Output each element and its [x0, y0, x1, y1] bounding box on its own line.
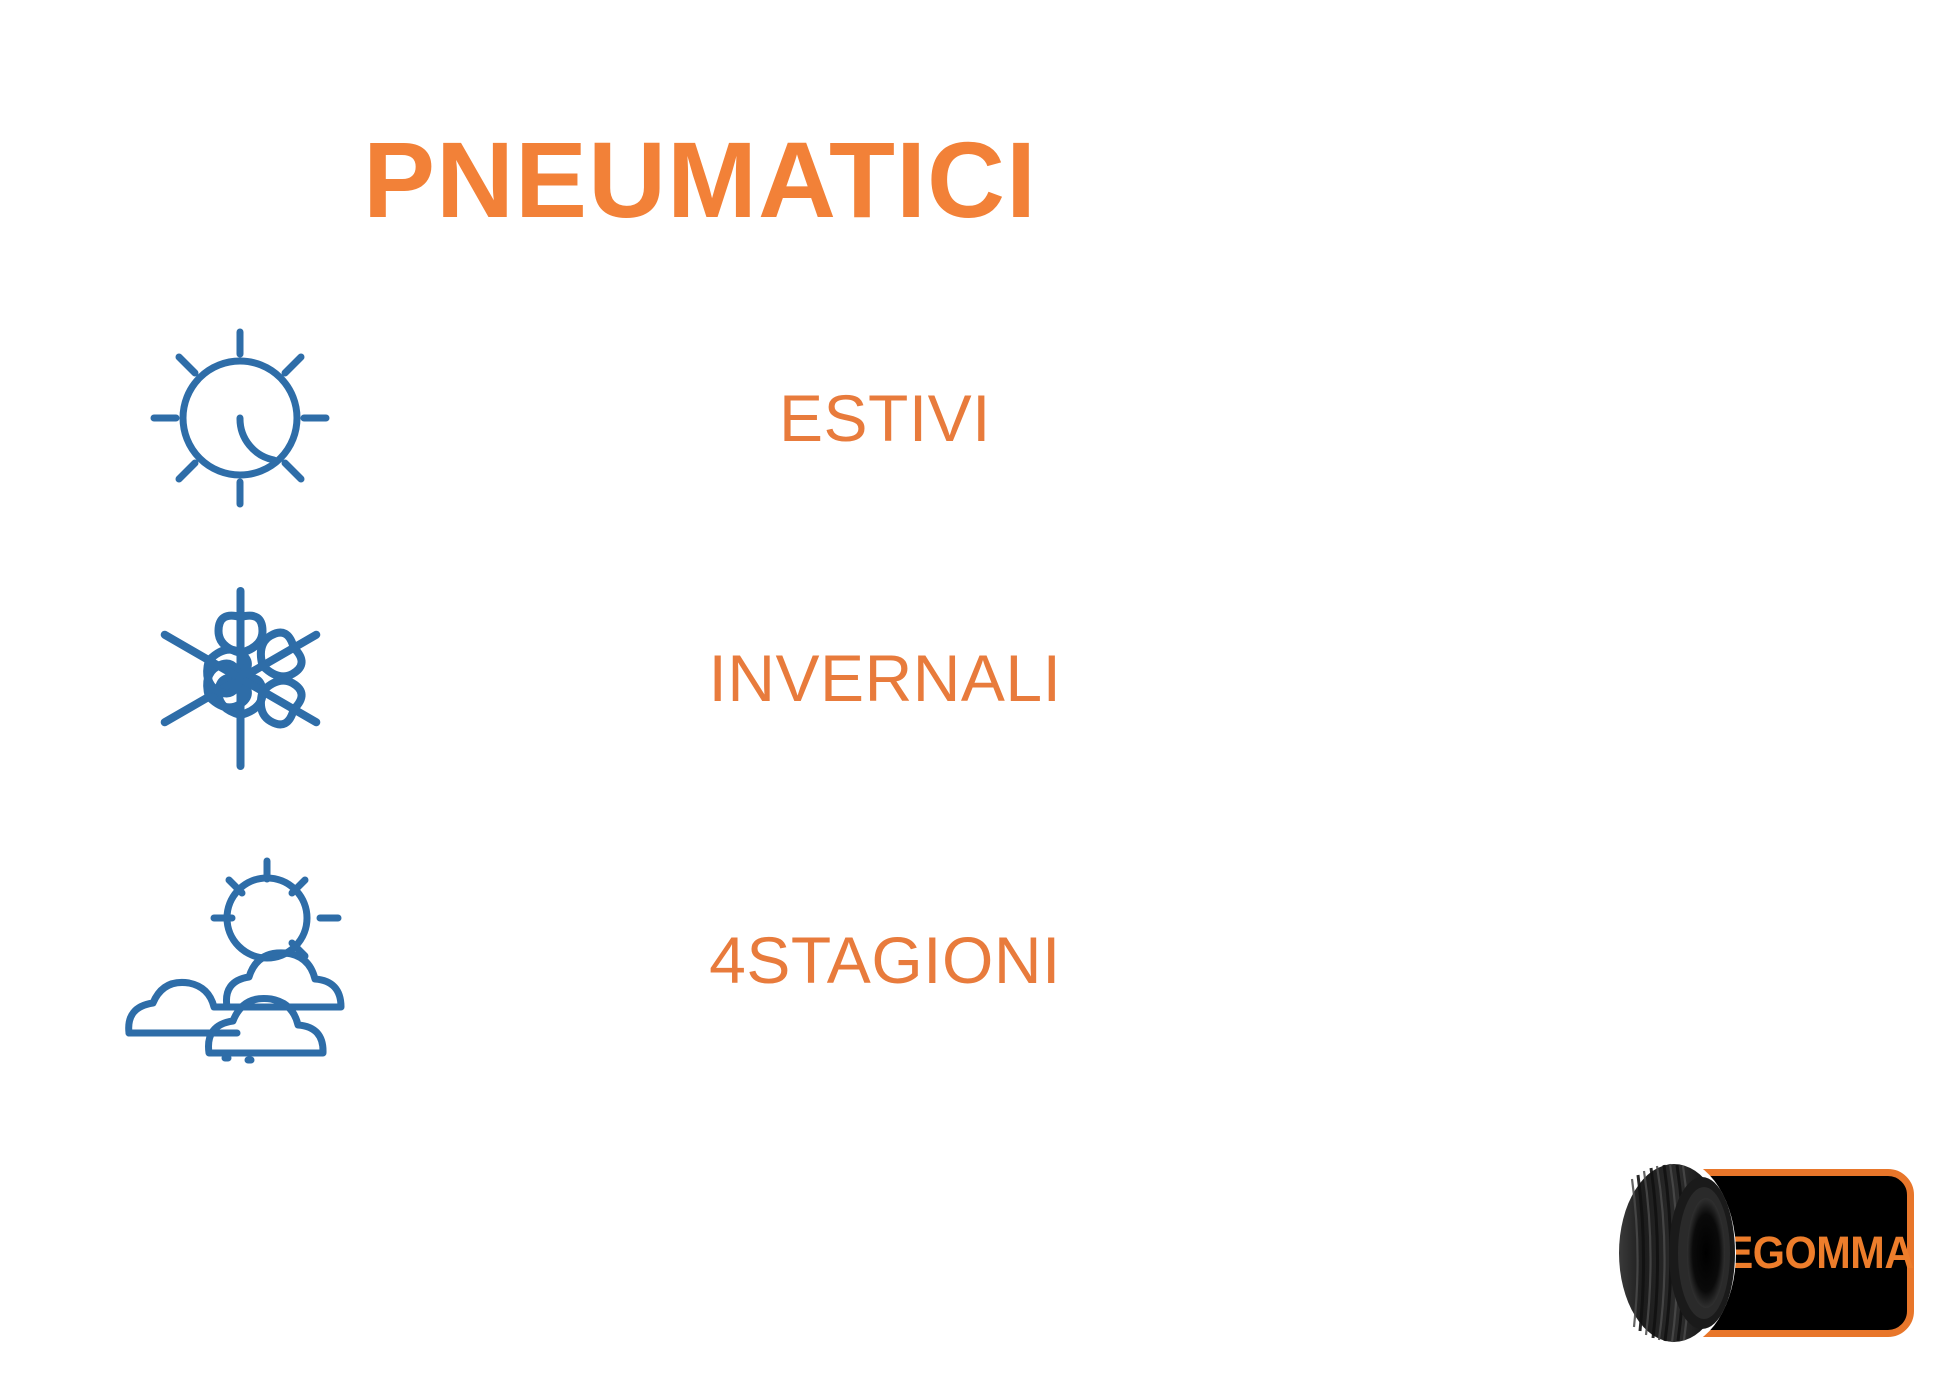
- slide-canvas: PNEUMATICI: [0, 0, 1946, 1376]
- estivi-label-cell: ESTIVI: [480, 385, 1400, 451]
- snowflake-icon: [138, 571, 343, 786]
- season-label-4stagioni: 4STAGIONI: [709, 927, 1061, 993]
- regomma-logo[interactable]: REGOMMA: [1614, 1151, 1914, 1356]
- season-row-4stagioni[interactable]: 4STAGIONI: [0, 830, 1400, 1090]
- season-row-estivi[interactable]: ESTIVI: [0, 288, 1400, 548]
- season-label-estivi: ESTIVI: [779, 385, 991, 451]
- sun-behind-clouds-icon-cell: [0, 830, 480, 1090]
- invernali-label-cell: INVERNALI: [480, 645, 1400, 711]
- sun-icon: [135, 318, 345, 518]
- season-list: ESTIVI: [0, 0, 1400, 1376]
- logo-shell: REGOMMA: [1614, 1169, 1914, 1337]
- tire-icon: [1614, 1157, 1744, 1349]
- sun-icon-cell: [0, 288, 480, 548]
- season-label-invernali: INVERNALI: [709, 645, 1062, 711]
- snowflake-icon-cell: [0, 548, 480, 808]
- sun-behind-clouds-icon: [115, 855, 365, 1065]
- stagioni-label-cell: 4STAGIONI: [480, 927, 1400, 993]
- season-row-invernali[interactable]: INVERNALI: [0, 548, 1400, 808]
